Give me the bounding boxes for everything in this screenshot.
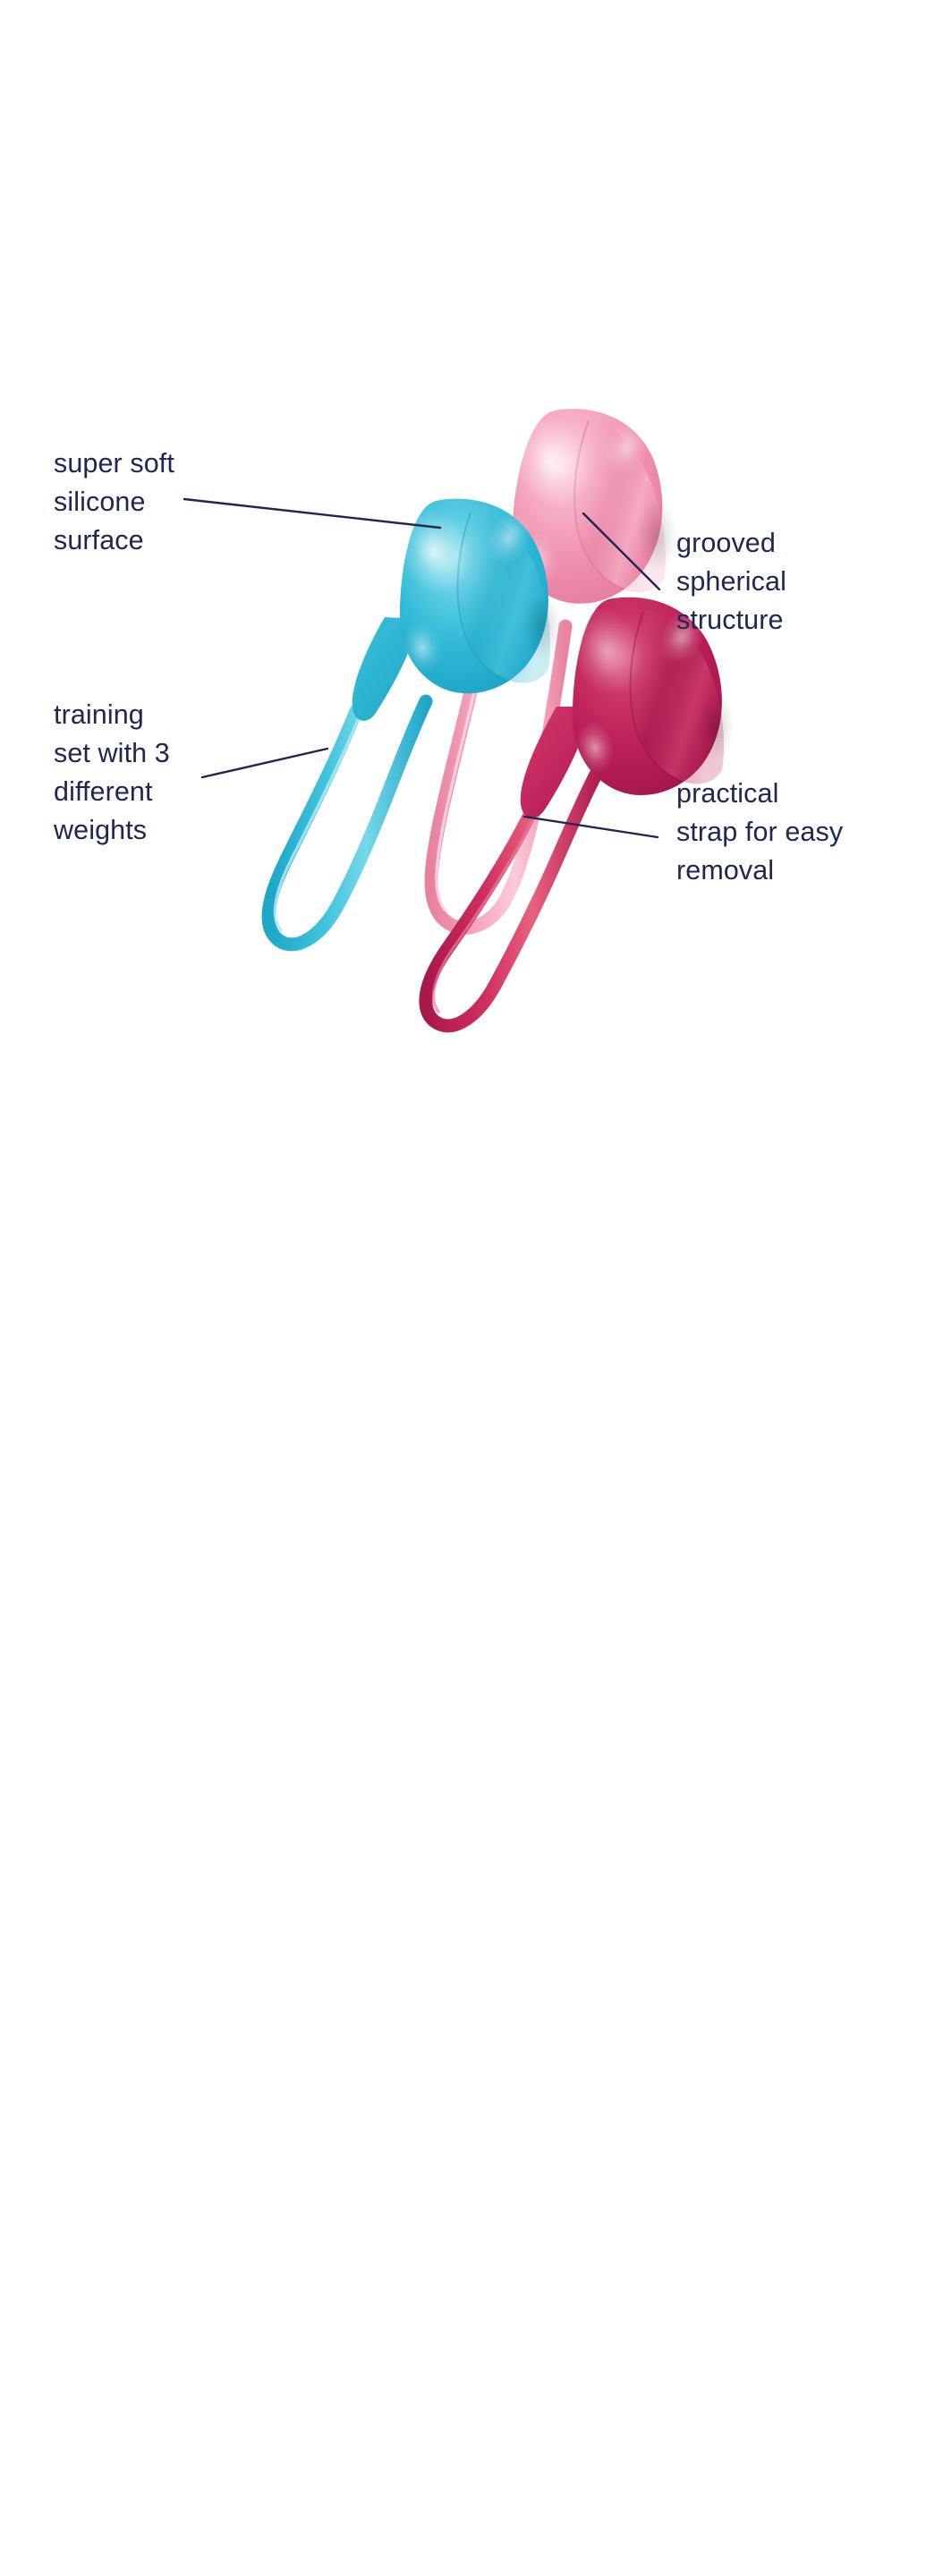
callout-training-set-with-3-different-weights: training set with 3 different weights [54,696,295,850]
product-illustration [0,0,926,1288]
product-item-teal [268,499,561,945]
callout-practical-strap-for-easy-removal: practical strap for easy removal [676,775,922,890]
teal-groove-crease [457,513,509,681]
pink-strap-loop [431,626,565,928]
pink-highlight-secondary [595,412,658,482]
product-features-page: PRODUCT FEATURES [0,0,926,1288]
callout-super-soft-silicone-surface: super soft silicone surface [54,445,286,560]
crimson-strap-loop [426,771,598,1026]
pink-neck [476,533,533,644]
crimson-highlight-main [560,598,652,705]
leader-line-grooved [583,513,659,589]
teal-neck [353,617,421,721]
pink-highlight-lower [513,529,563,589]
teal-ball [400,499,548,694]
product-item-pink [431,406,677,928]
teal-highlight-lower [398,618,446,676]
pink-shade-edge [638,501,677,572]
teal-shade-edge [523,592,561,660]
pink-groove-crease [574,420,624,589]
pink-strap-highlight [437,631,488,910]
teal-ball-groove [458,510,550,682]
pink-highlight-main [503,406,599,517]
pink-ball [513,409,662,604]
callout-grooved-spherical-structure: grooved spherical structure [676,524,918,640]
crimson-groove-crease [630,612,683,782]
pink-ball-groove [575,419,666,592]
teal-highlight-main [387,499,480,606]
leader-line-practical-strap [524,817,658,837]
crimson-strap-highlight [434,812,537,1012]
crimson-highlight-lower [571,718,618,776]
crimson-shade-edge [697,692,735,760]
teal-highlight-secondary [479,504,539,571]
crimson-neck [521,707,593,818]
